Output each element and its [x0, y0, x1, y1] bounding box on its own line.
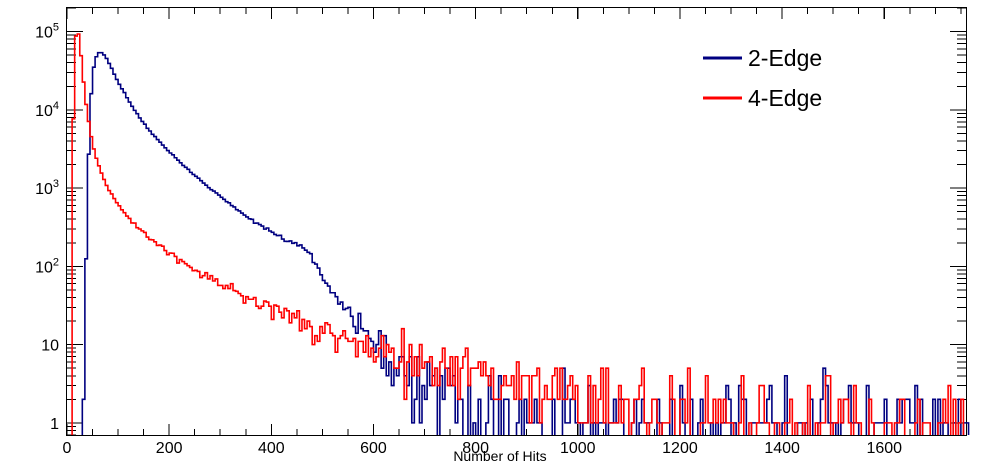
x-tick-label: 0: [63, 440, 72, 457]
histogram-svg: 110102103104105 020040060080010001200140…: [0, 0, 996, 472]
legend-label-2-edge: 2-Edge: [748, 45, 822, 71]
y-tick-label: 10: [41, 338, 59, 355]
x-tick-label: 1600: [866, 440, 902, 457]
x-tick-label: 1400: [764, 440, 800, 457]
x-tick-label: 1000: [560, 440, 596, 457]
plot-canvas: 110102103104105 020040060080010001200140…: [0, 0, 996, 472]
x-tick-label: 1200: [662, 440, 698, 457]
x-axis-title: Number of Hits: [453, 448, 546, 464]
x-tick-label: 400: [258, 440, 285, 457]
legend-label-4-edge: 4-Edge: [748, 85, 822, 111]
chart-root: 110102103104105 020040060080010001200140…: [0, 0, 996, 472]
y-tick-label: 1: [50, 416, 59, 433]
x-tick-label: 200: [156, 440, 183, 457]
x-tick-label: 600: [360, 440, 387, 457]
